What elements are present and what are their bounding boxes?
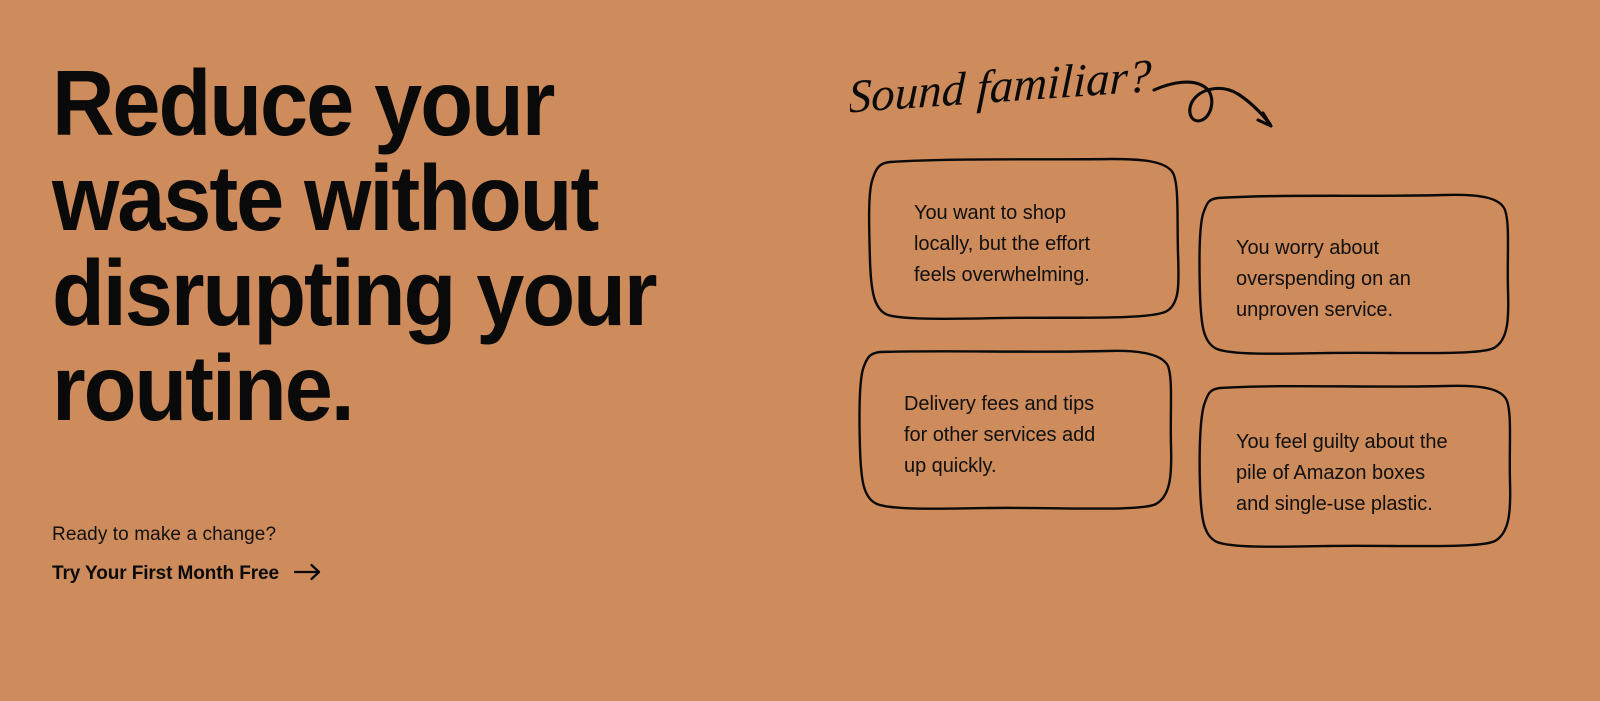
pain-point-card: You worry about overspending on an unpro… — [1192, 192, 1514, 357]
pain-point-card: You want to shop locally, but the effort… — [862, 157, 1182, 322]
pain-point-text: You want to shop locally, but the effort… — [914, 198, 1090, 291]
script-label-text: Sound familiar? — [850, 50, 1153, 123]
pain-point-text: Delivery fees and tips for other service… — [904, 389, 1095, 482]
pain-point-card: You feel guilty about the pile of Amazon… — [1192, 382, 1514, 550]
try-first-month-free-link[interactable]: Try Your First Month Free — [52, 562, 322, 586]
pain-point-text: You worry about overspending on an unpro… — [1236, 233, 1411, 326]
cta-eyebrow: Ready to make a change? — [52, 522, 652, 548]
cta-block: Ready to make a change? Try Your First M… — [52, 522, 652, 586]
pain-point-card: Delivery fees and tips for other service… — [850, 348, 1178, 513]
arrow-right-icon — [294, 563, 322, 586]
cta-link-label: Try Your First Month Free — [52, 562, 279, 586]
hand-drawn-curved-arrow-icon — [1150, 62, 1290, 142]
pain-points-panel: Sound familiar? You want to shop locally… — [840, 0, 1600, 701]
sound-familiar-script-label: Sound familiar? — [850, 50, 1180, 130]
pain-point-text: You feel guilty about the pile of Amazon… — [1236, 427, 1448, 520]
page-title: Reduce your waste without disrupting you… — [52, 56, 722, 436]
hero-copy: Reduce your waste without disrupting you… — [52, 56, 772, 436]
